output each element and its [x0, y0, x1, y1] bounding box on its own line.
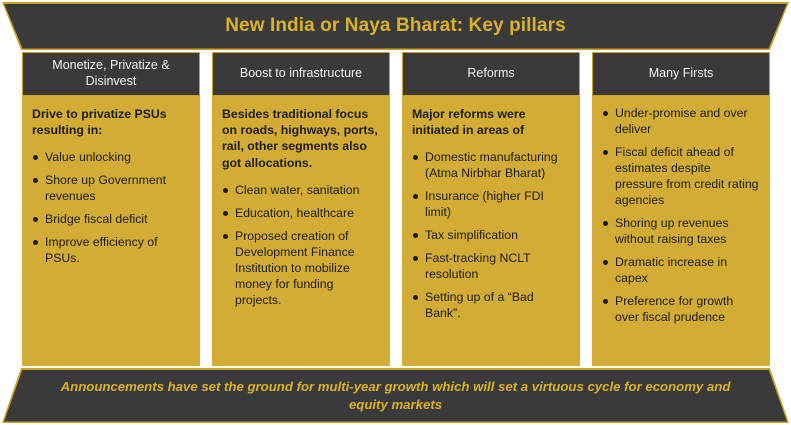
pillar-column-monetize-privatize-disinvest: Monetize, Privatize & Disinvest Drive to…	[22, 52, 200, 366]
list-item: Proposed creation of Development Finance…	[222, 229, 380, 309]
header-banner: New India or Naya Bharat: Key pillars	[0, 4, 791, 49]
pillar-body-2: Besides traditional focus on roads, high…	[212, 96, 390, 366]
list-item: Shore up Government revenues	[32, 173, 190, 205]
bullet-dot-icon	[33, 178, 38, 183]
bullet-dot-icon	[413, 155, 418, 160]
bullet-dot-icon	[603, 150, 608, 155]
pillar-body-1: Drive to privatize PSUs resulting in: Va…	[22, 96, 200, 366]
bullet-text: Value unlocking	[45, 150, 131, 164]
bullet-text: Education, healthcare	[235, 206, 354, 220]
list-item: Preference for growth over fiscal pruden…	[602, 294, 760, 326]
pillar-header-1: Monetize, Privatize & Disinvest	[22, 52, 200, 96]
bullet-text: Shoring up revenues without raising taxe…	[615, 216, 728, 246]
pillar-bullet-list-1: Value unlocking Shore up Government reve…	[32, 150, 190, 267]
pillar-header-label-3: Reforms	[467, 66, 514, 82]
bullet-text: Setting up of a “Bad Bank”.	[425, 290, 534, 320]
bullet-dot-icon	[413, 295, 418, 300]
bullet-text: Bridge fiscal deficit	[45, 212, 148, 226]
list-item: Setting up of a “Bad Bank”.	[412, 290, 570, 322]
pillar-header-label-2: Boost to infrastructure	[240, 66, 362, 82]
pillar-column-boost-to-infrastructure: Boost to infrastructure Besides traditio…	[212, 52, 390, 366]
bullet-text: Clean water, sanitation	[235, 183, 359, 197]
bullet-dot-icon	[33, 240, 38, 245]
list-item: Fiscal deficit ahead of estimates despit…	[602, 145, 760, 209]
bullet-dot-icon	[413, 233, 418, 238]
pillar-bullet-list-2: Clean water, sanitation Education, healt…	[222, 183, 380, 309]
bullet-text: Fiscal deficit ahead of estimates despit…	[615, 145, 759, 207]
list-item: Education, healthcare	[222, 206, 380, 222]
bullet-text: Preference for growth over fiscal pruden…	[615, 294, 733, 324]
list-item: Fast-tracking NCLT resolution	[412, 251, 570, 283]
page-title: New India or Naya Bharat: Key pillars	[225, 16, 566, 37]
pillar-columns: Monetize, Privatize & Disinvest Drive to…	[22, 52, 770, 366]
pillar-intro-2: Besides traditional focus on roads, high…	[222, 106, 380, 171]
bullet-text: Under-promise and over deliver	[615, 106, 748, 136]
list-item: Insurance (higher FDI limit)	[412, 189, 570, 221]
bullet-text: Tax simplification	[425, 228, 518, 242]
pillar-bullet-list-4: Under-promise and over deliver Fiscal de…	[602, 106, 760, 326]
bullet-dot-icon	[223, 188, 228, 193]
list-item: Value unlocking	[32, 150, 190, 166]
pillar-body-4: Under-promise and over deliver Fiscal de…	[592, 96, 770, 366]
pillar-body-3: Major reforms were initiated in areas of…	[402, 96, 580, 366]
bullet-dot-icon	[413, 256, 418, 261]
pillar-header-4: Many Firsts	[592, 52, 770, 96]
pillar-intro-3: Major reforms were initiated in areas of	[412, 106, 570, 138]
bullet-text: Domestic manufacturing (Atma Nirbhar Bha…	[425, 150, 558, 180]
pillar-header-2: Boost to infrastructure	[212, 52, 390, 96]
bullet-dot-icon	[223, 234, 228, 239]
bullet-dot-icon	[223, 211, 228, 216]
bullet-text: Proposed creation of Development Finance…	[235, 229, 355, 307]
bullet-text: Improve efficiency of PSUs.	[45, 235, 158, 265]
bullet-text: Fast-tracking NCLT resolution	[425, 251, 530, 281]
list-item: Bridge fiscal deficit	[32, 212, 190, 228]
pillar-header-3: Reforms	[402, 52, 580, 96]
list-item: Clean water, sanitation	[222, 183, 380, 199]
list-item: Under-promise and over deliver	[602, 106, 760, 138]
infographic-root: New India or Naya Bharat: Key pillars Mo…	[0, 0, 791, 425]
pillar-intro-1: Drive to privatize PSUs resulting in:	[32, 106, 190, 138]
list-item: Domestic manufacturing (Atma Nirbhar Bha…	[412, 150, 570, 182]
footer-banner: Announcements have set the ground for mu…	[0, 370, 791, 422]
bullet-dot-icon	[33, 155, 38, 160]
list-item: Tax simplification	[412, 228, 570, 244]
list-item: Improve efficiency of PSUs.	[32, 235, 190, 267]
bullet-dot-icon	[603, 111, 608, 116]
footer-summary-text: Announcements have set the ground for mu…	[46, 378, 746, 414]
bullet-text: Insurance (higher FDI limit)	[425, 189, 544, 219]
pillar-header-label-1: Monetize, Privatize & Disinvest	[29, 58, 193, 89]
pillar-column-reforms: Reforms Major reforms were initiated in …	[402, 52, 580, 366]
pillar-column-many-firsts: Many Firsts Under-promise and over deliv…	[592, 52, 770, 366]
pillar-header-label-4: Many Firsts	[649, 66, 714, 82]
bullet-text: Shore up Government revenues	[45, 173, 166, 203]
bullet-text: Dramatic increase in capex	[615, 255, 727, 285]
pillar-bullet-list-3: Domestic manufacturing (Atma Nirbhar Bha…	[412, 150, 570, 322]
list-item: Dramatic increase in capex	[602, 255, 760, 287]
bullet-dot-icon	[413, 194, 418, 199]
list-item: Shoring up revenues without raising taxe…	[602, 216, 760, 248]
bullet-dot-icon	[603, 260, 608, 265]
bullet-dot-icon	[603, 221, 608, 226]
bullet-dot-icon	[33, 217, 38, 222]
bullet-dot-icon	[603, 299, 608, 304]
